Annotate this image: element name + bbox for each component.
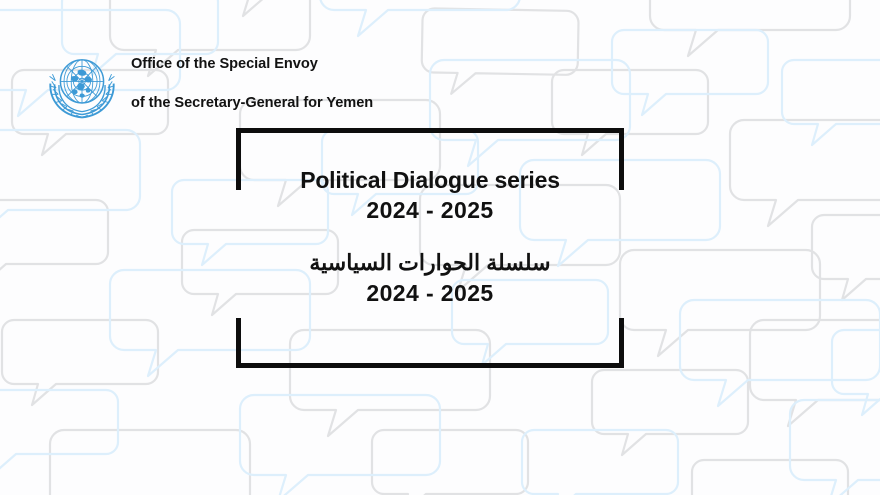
frame-corner-bottom-left	[236, 318, 241, 368]
organization-name: Office of the Special Envoy of the Secre…	[131, 36, 373, 133]
header-logo-lockup: Office of the Special Envoy of the Secre…	[46, 36, 373, 133]
presentation-slide: Office of the Special Envoy of the Secre…	[0, 0, 880, 495]
title-english: Political Dialogue series	[236, 166, 624, 196]
frame-corner-bottom-right	[619, 318, 624, 368]
frame-bottom-rail	[236, 363, 624, 368]
org-name-line2: of the Secretary-General for Yemen	[131, 94, 373, 113]
title-block-english: Political Dialogue series 2024 - 2025	[236, 166, 624, 226]
title-arabic-years: 2024 - 2025	[236, 278, 624, 309]
title-block-arabic: سلسلة الحوارات السياسية 2024 - 2025	[236, 248, 624, 309]
bracket-frame: Political Dialogue series 2024 - 2025 سل…	[236, 128, 624, 368]
org-name-line1: Office of the Special Envoy	[131, 55, 373, 74]
un-emblem	[46, 49, 118, 121]
title-english-years: 2024 - 2025	[236, 196, 624, 226]
title-arabic: سلسلة الحوارات السياسية	[236, 248, 624, 278]
